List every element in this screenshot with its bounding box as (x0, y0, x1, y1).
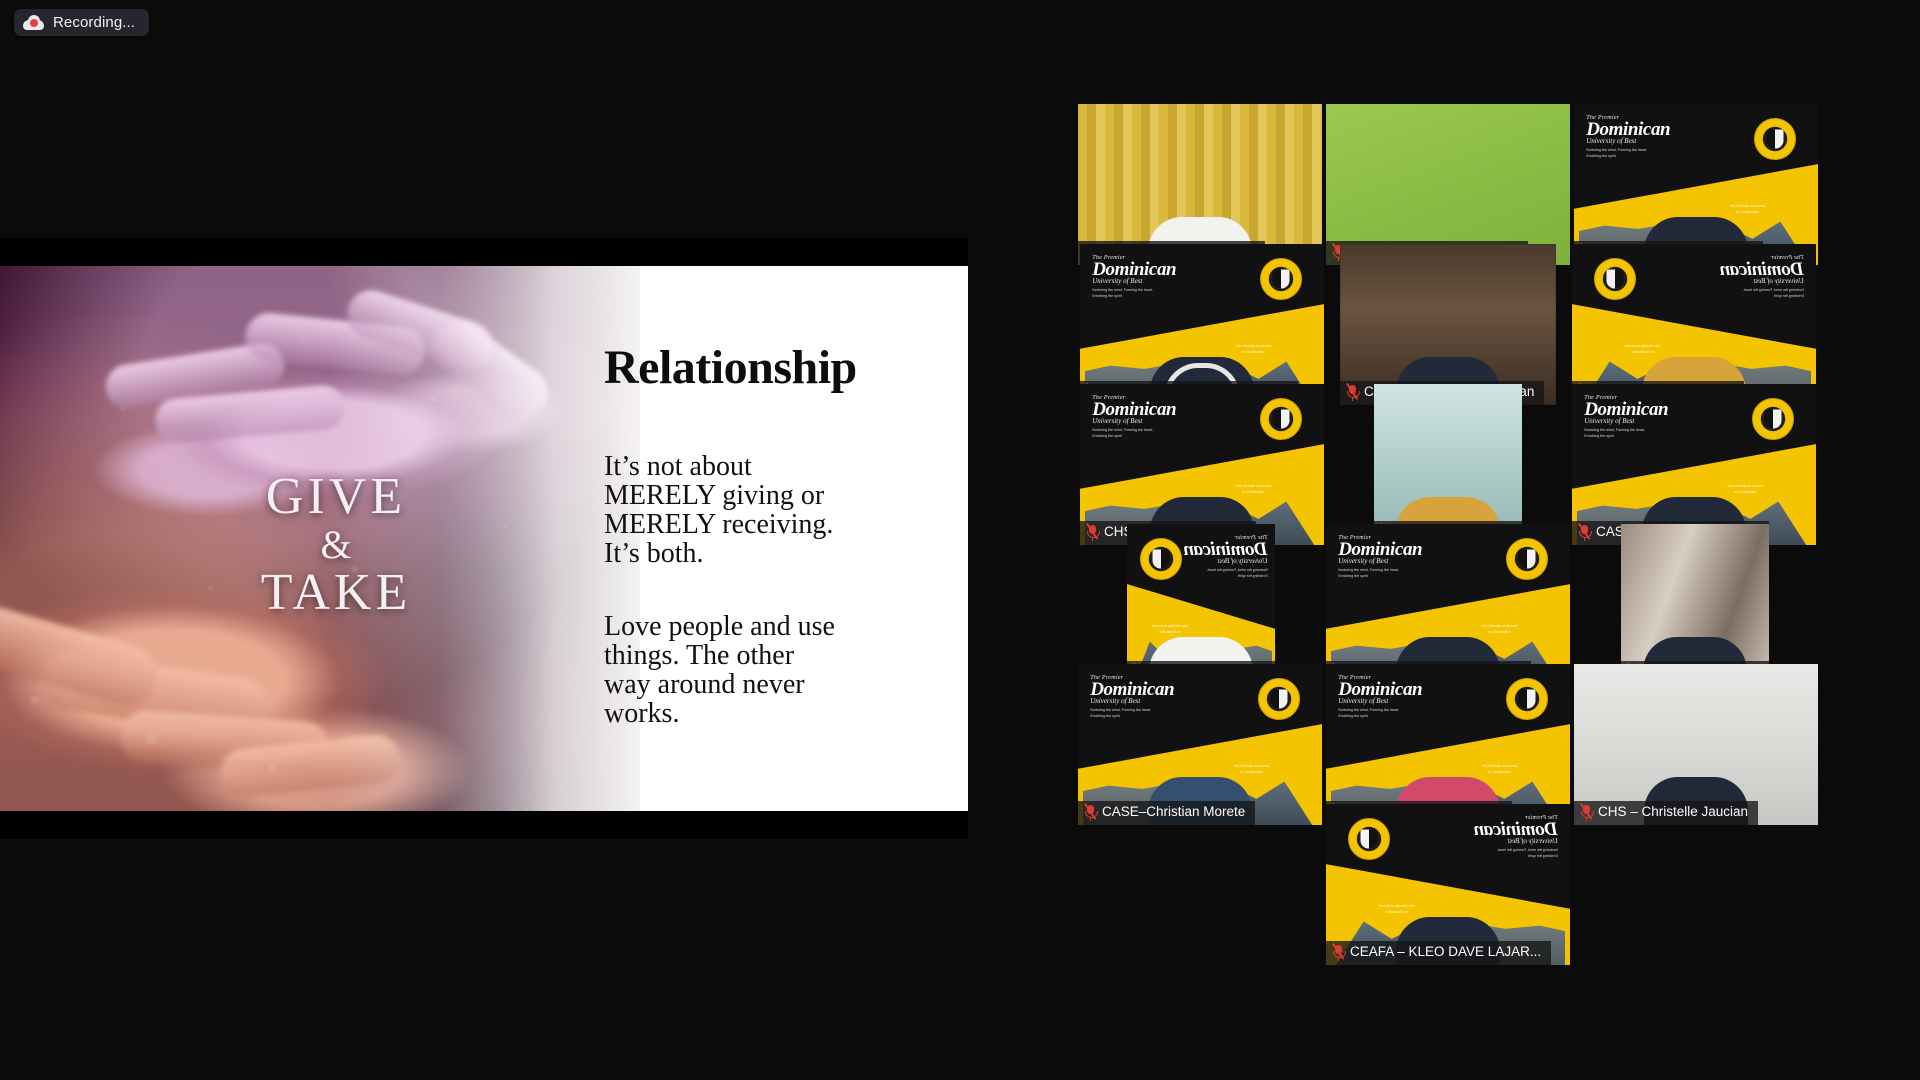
mic-muted-icon (1333, 945, 1344, 961)
participant-tile[interactable]: The PremierDominicanUniversity of BestNu… (1326, 664, 1570, 825)
participant-cell: CASE– Patrick Azotea (1328, 384, 1568, 545)
gallery-row: The PremierDominicanUniversity of BestNu… (1078, 804, 1818, 965)
university-of-santo-tomas-legazpi-seal-icon (1506, 538, 1548, 580)
vbg-wordmark-block: The PremierDominicanUniversity of BestNu… (1092, 395, 1176, 439)
gallery-row: The PremierDominicanUniversity of BestNu… (1078, 664, 1818, 825)
participant-name-bar: CEAFA – KLEO DAVE LAJAR... (1326, 941, 1551, 965)
participant-tile[interactable]: The PremierDominicanUniversity of BestNu… (1572, 244, 1816, 405)
vbg-motto: Vita Veritatis et Amorisex Gratitudine (1694, 204, 1801, 216)
gallery-row: The PremierDominicanUniversity of BestNu… (1078, 384, 1818, 545)
slide-paragraph-1: It’s not about MERELY giving or MERELY r… (604, 452, 833, 568)
university-of-santo-tomas-legazpi-seal-icon (1348, 818, 1390, 860)
gallery-row: The PremierDominicanUniversity of BestNu… (1078, 244, 1818, 405)
participant-cell: The PremierDominicanUniversity of BestNu… (1080, 384, 1324, 545)
university-of-santo-tomas-legazpi-seal-icon (1752, 398, 1794, 440)
artwork-line-amp: & (236, 525, 436, 565)
vbg-motto: Vita Veritatis et Amorisex Gratitudine (1137, 624, 1202, 636)
participant-cell: The PremierDominicanUniversity of BestNu… (1326, 524, 1570, 685)
vbg-motto: Vita Veritatis et Amorisex Gratitudine (1200, 484, 1307, 496)
participant-tile[interactable]: CHS – Aina Raecel Tejerero (1326, 104, 1570, 265)
university-of-santo-tomas-legazpi-seal-icon (1260, 258, 1302, 300)
participant-tile[interactable]: The PremierDominicanUniversity of BestNu… (1080, 384, 1324, 545)
vbg-motto: Vita Veritatis et Amorisex Gratitudine (1200, 344, 1307, 356)
participant-cell: The PremierDominicanUniversity of BestNu… (1572, 244, 1816, 405)
participant-tile[interactable]: The PremierDominicanUniversity of BestNu… (1127, 524, 1275, 685)
participant-tile[interactable]: The PremierDominicanUniversity of BestNu… (1572, 384, 1816, 545)
university-of-santo-tomas-legazpi-seal-icon (1754, 118, 1796, 160)
vbg-motto: Vita Veritatis et Amorisex Gratitudine (1446, 624, 1553, 636)
participant-tile[interactable]: The PremierDominicanUniversity of BestNu… (1326, 524, 1570, 685)
participant-cell: The PremierDominicanUniversity of BestNu… (1325, 804, 1571, 965)
artwork-line-give: GIVE (236, 471, 436, 523)
participant-cell: CHS – Aina Raecel Tejerero (1326, 104, 1570, 265)
participant-tile[interactable]: CASE– Patrick Azotea (1374, 384, 1522, 545)
recording-label: Recording... (53, 15, 135, 30)
university-of-santo-tomas-legazpi-seal-icon (1258, 678, 1300, 720)
vbg-motto: Vita Veritatis et Amorisex Gratitudine (1589, 344, 1696, 356)
give-take-artwork-text: GIVE & TAKE (236, 471, 436, 619)
participant-cell: The PremierDominicanUniversity of BestNu… (1080, 524, 1322, 685)
vbg-motto: Vita Veritatis et Amorisex Gratitudine (1692, 484, 1799, 496)
slide-title: Relationship (604, 340, 857, 395)
university-of-santo-tomas-legazpi-seal-icon (1506, 678, 1548, 720)
vbg-wordmark-block: The PremierDominicanUniversity of BestNu… (1584, 395, 1668, 439)
participant-cell: Brother Ian Joeffrey Melen... (1078, 104, 1322, 265)
participant-tile[interactable]: The PremierDominicanUniversity of BestNu… (1574, 104, 1818, 265)
vbg-wordmark-block: The PremierDominicanUniversity of BestNu… (1720, 255, 1804, 299)
slide-artwork-photo: GIVE & TAKE (0, 266, 640, 811)
participant-cell: CHS – Trina Joy Orbe (1574, 524, 1816, 685)
participant-cell: The PremierDominicanUniversity of BestNu… (1078, 664, 1322, 825)
participant-cell: The PremierDominicanUniversity of BestNu… (1574, 104, 1818, 265)
recording-indicator[interactable]: Recording... (14, 9, 149, 36)
participant-name: CEAFA – KLEO DAVE LAJAR... (1350, 944, 1541, 961)
participant-tile[interactable]: The PremierDominicanUniversity of BestNu… (1080, 244, 1324, 405)
participant-cell: CHS – Camille Anne Gianan (1328, 244, 1568, 405)
participant-tile[interactable]: CHS – Christelle Jaucian (1574, 664, 1818, 825)
university-of-santo-tomas-legazpi-seal-icon (1260, 398, 1302, 440)
vbg-wordmark-block: The PremierDominicanUniversity of BestNu… (1586, 115, 1670, 159)
vbg-wordmark-block: The PremierDominicanUniversity of BestNu… (1474, 815, 1558, 859)
slide-paragraph-2: Love people and use things. The other wa… (604, 612, 835, 728)
cloud-record-icon (23, 15, 44, 30)
vbg-wordmark-block: The PremierDominicanUniversity of BestNu… (1338, 675, 1422, 719)
vbg-wordmark-block: The PremierDominicanUniversity of BestNu… (1090, 675, 1174, 719)
shared-screen-area[interactable]: GIVE & TAKE Relationship It’s not about … (0, 238, 968, 839)
vbg-motto: Vita Veritatis et Amorisex Gratitudine (1198, 764, 1305, 776)
university-of-santo-tomas-legazpi-seal-icon (1140, 538, 1182, 580)
participant-cell: The PremierDominicanUniversity of BestNu… (1080, 244, 1324, 405)
participant-tile[interactable]: Brother Ian Joeffrey Melen... (1078, 104, 1322, 265)
participant-cell: CHS – Christelle Jaucian (1574, 664, 1818, 825)
vbg-wordmark-block: The PremierDominicanUniversity of BestNu… (1184, 535, 1268, 579)
participant-tile[interactable]: The PremierDominicanUniversity of BestNu… (1326, 804, 1570, 965)
university-of-santo-tomas-legazpi-seal-icon (1594, 258, 1636, 300)
presentation-slide: GIVE & TAKE Relationship It’s not about … (0, 266, 968, 811)
participant-cell: The PremierDominicanUniversity of BestNu… (1572, 384, 1816, 545)
participant-tile[interactable]: CHS – Trina Joy Orbe (1621, 524, 1769, 685)
artwork-line-take: TAKE (236, 567, 436, 619)
vbg-motto: Vita Veritatis et Amorisex Gratitudine (1446, 764, 1553, 776)
gallery-row: The PremierDominicanUniversity of BestNu… (1078, 524, 1818, 685)
participant-cell: The PremierDominicanUniversity of BestNu… (1326, 664, 1570, 825)
participant-tile[interactable]: The PremierDominicanUniversity of BestNu… (1078, 664, 1322, 825)
gallery-row: Brother Ian Joeffrey Melen...CHS – Aina … (1078, 104, 1818, 265)
vbg-wordmark-block: The PremierDominicanUniversity of BestNu… (1092, 255, 1176, 299)
vbg-motto: Vita Veritatis et Amorisex Gratitudine (1343, 904, 1450, 916)
participant-tile[interactable]: CHS – Camille Anne Gianan (1340, 244, 1556, 405)
participant-gallery[interactable]: Brother Ian Joeffrey Melen...CHS – Aina … (1078, 104, 1818, 959)
vbg-wordmark-block: The PremierDominicanUniversity of BestNu… (1338, 535, 1422, 579)
